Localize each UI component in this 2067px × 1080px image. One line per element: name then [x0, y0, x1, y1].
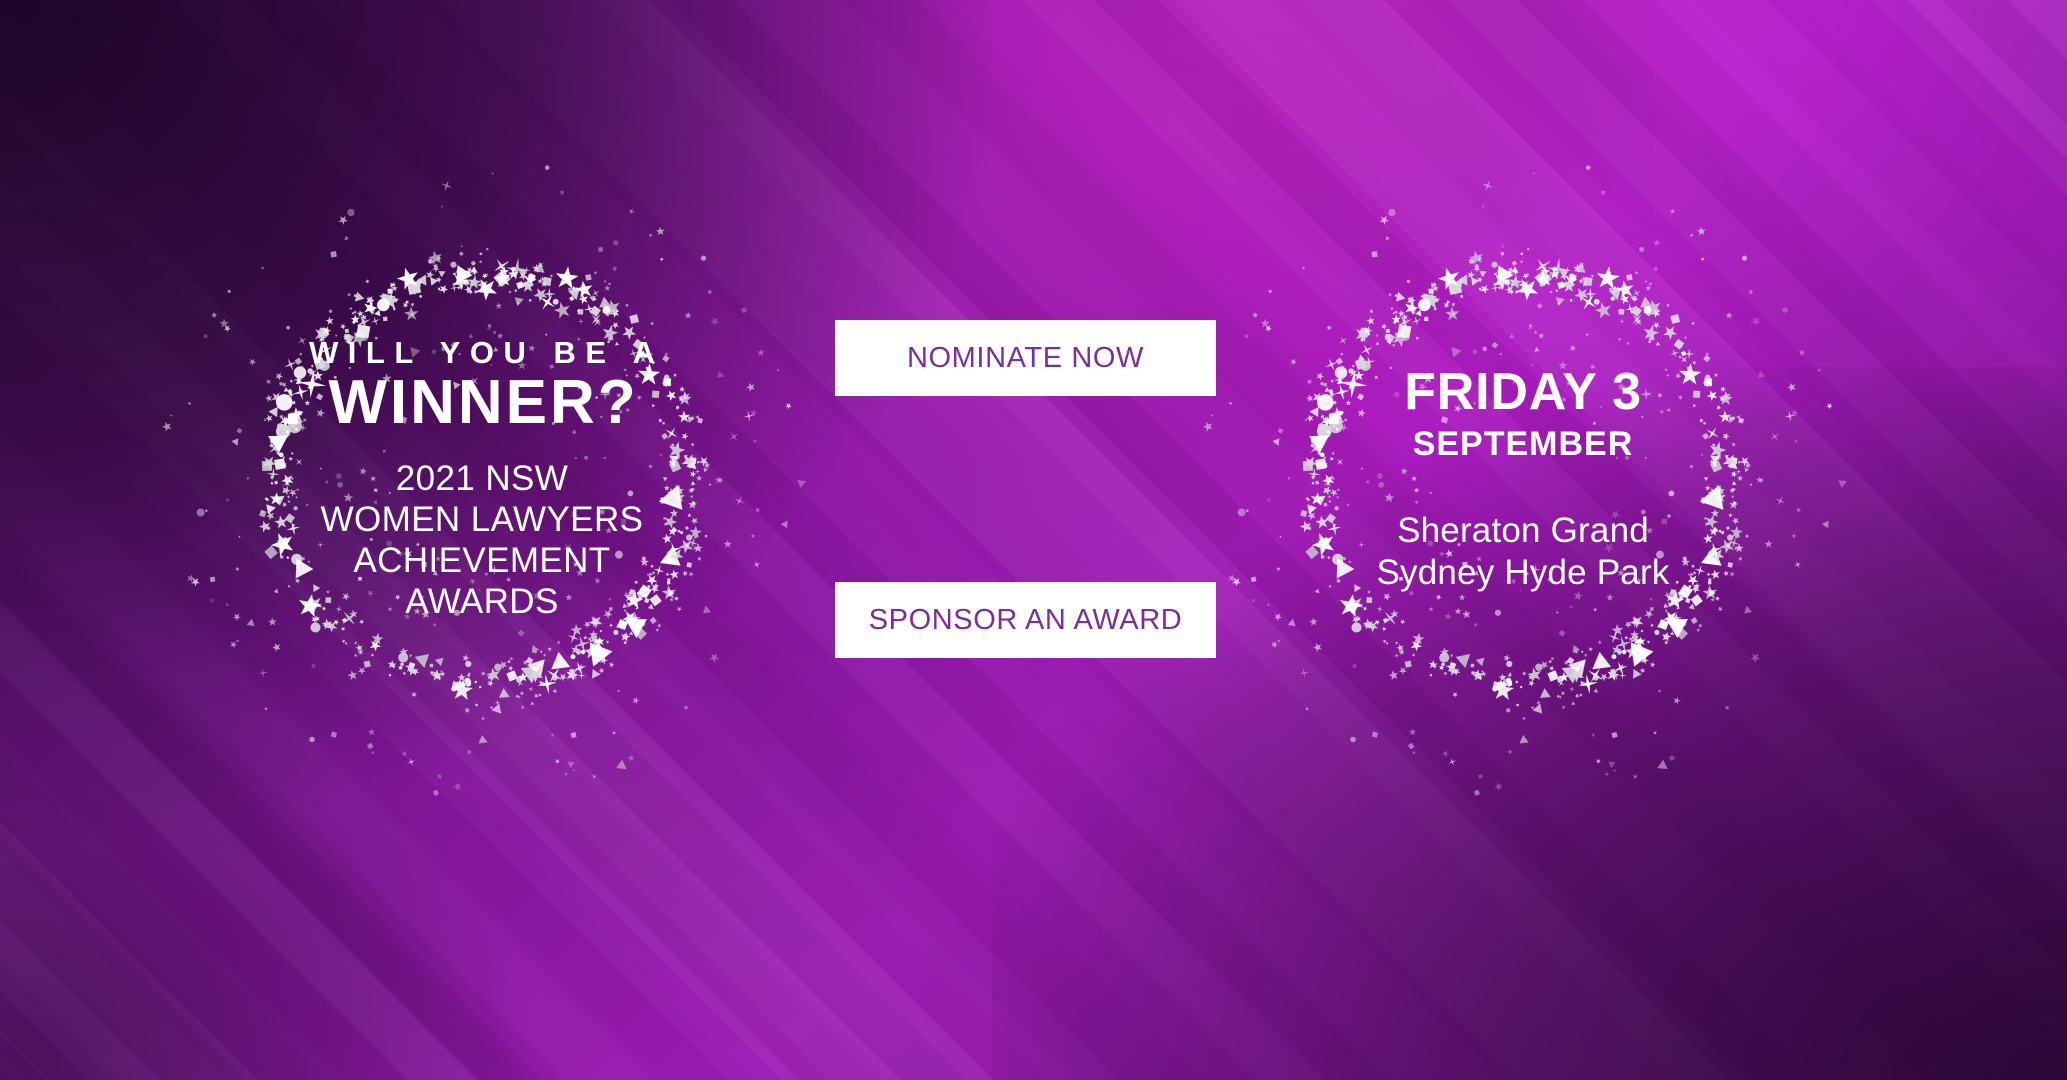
medallion-left: WILL YOU BE A WINNER? 2021 NSW WOMEN LAW… [202, 200, 762, 760]
event-venue-line-2: Sydney Hyde Park [1376, 552, 1669, 594]
event-venue: Sheraton Grand Sydney Hyde Park [1376, 510, 1669, 594]
awards-subhead-line-4: AWARDS [321, 582, 644, 623]
awards-subhead: 2021 NSW WOMEN LAWYERS ACHIEVEMENT AWARD… [321, 459, 644, 623]
event-venue-line-1: Sheraton Grand [1376, 510, 1669, 552]
awards-subhead-line-2: WOMEN LAWYERS [321, 500, 644, 541]
awards-subhead-line-3: ACHIEVEMENT [321, 541, 644, 582]
medallion-right: FRIDAY 3 SEPTEMBER Sheraton Grand Sydney… [1243, 200, 1803, 760]
sponsor-an-award-button[interactable]: SPONSOR AN AWARD [835, 582, 1216, 658]
awards-subhead-line-1: 2021 NSW [321, 459, 644, 500]
awards-eyebrow: WILL YOU BE A [300, 337, 665, 369]
medallion-right-content: FRIDAY 3 SEPTEMBER Sheraton Grand Sydney… [1243, 200, 1803, 760]
medallion-left-content: WILL YOU BE A WINNER? 2021 NSW WOMEN LAW… [202, 200, 762, 760]
event-month: SEPTEMBER [1413, 425, 1634, 464]
event-date: FRIDAY 3 [1404, 366, 1642, 419]
nominate-now-button[interactable]: NOMINATE NOW [835, 320, 1216, 396]
awards-banner: WILL YOU BE A WINNER? 2021 NSW WOMEN LAW… [0, 0, 2067, 1080]
awards-headline: WINNER? [325, 371, 638, 435]
